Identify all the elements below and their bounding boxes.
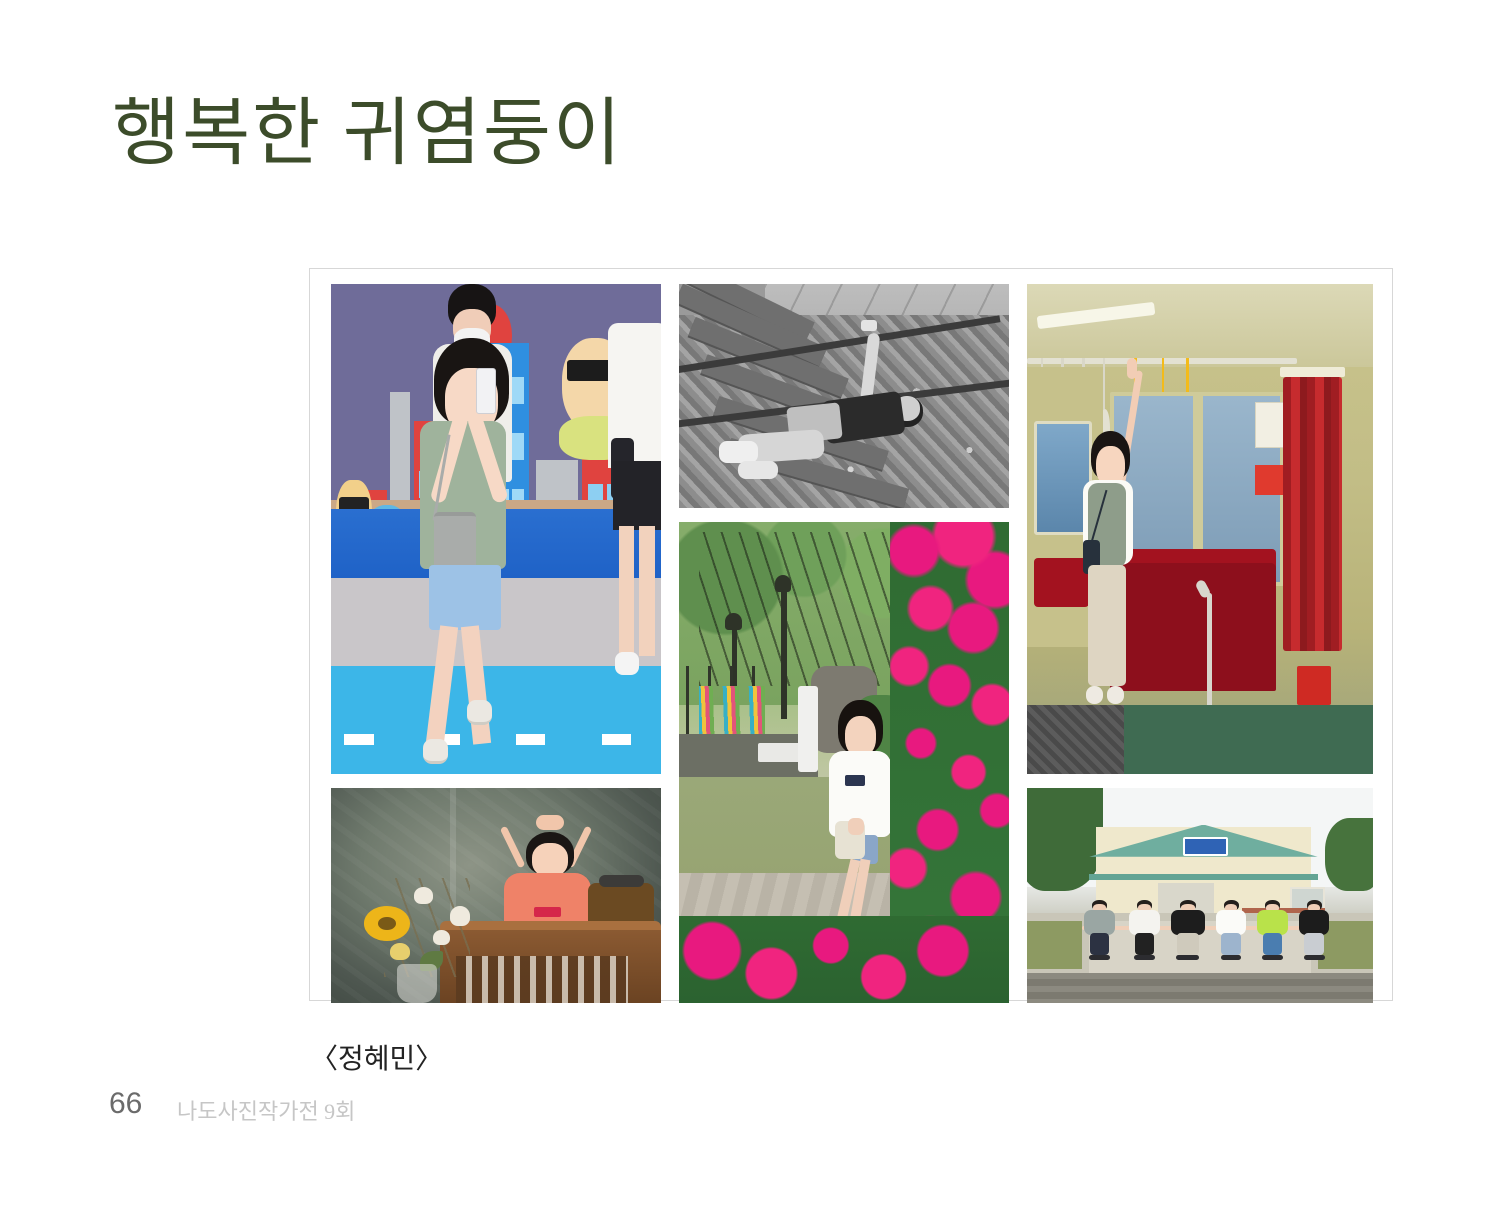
slide-page: 행복한 귀염둥이	[0, 0, 1500, 1211]
photo-train-interior	[1027, 284, 1373, 774]
photo-caption: 〈정혜민〉	[310, 1037, 443, 1077]
photo-railway-bw	[679, 284, 1009, 508]
photo-selfie-cartoon-hall	[331, 284, 661, 774]
footer-text: 나도사진작가전 9회	[177, 1094, 355, 1126]
photo-grid	[331, 284, 1373, 989]
page-title: 행복한 귀염둥이	[112, 96, 623, 174]
photo-collage-frame	[309, 268, 1393, 1001]
page-number: 66	[109, 1087, 142, 1121]
photo-studio-portrait	[331, 788, 661, 1003]
photo-group-station	[1027, 788, 1373, 1003]
photo-park-flowers	[679, 522, 1009, 1003]
